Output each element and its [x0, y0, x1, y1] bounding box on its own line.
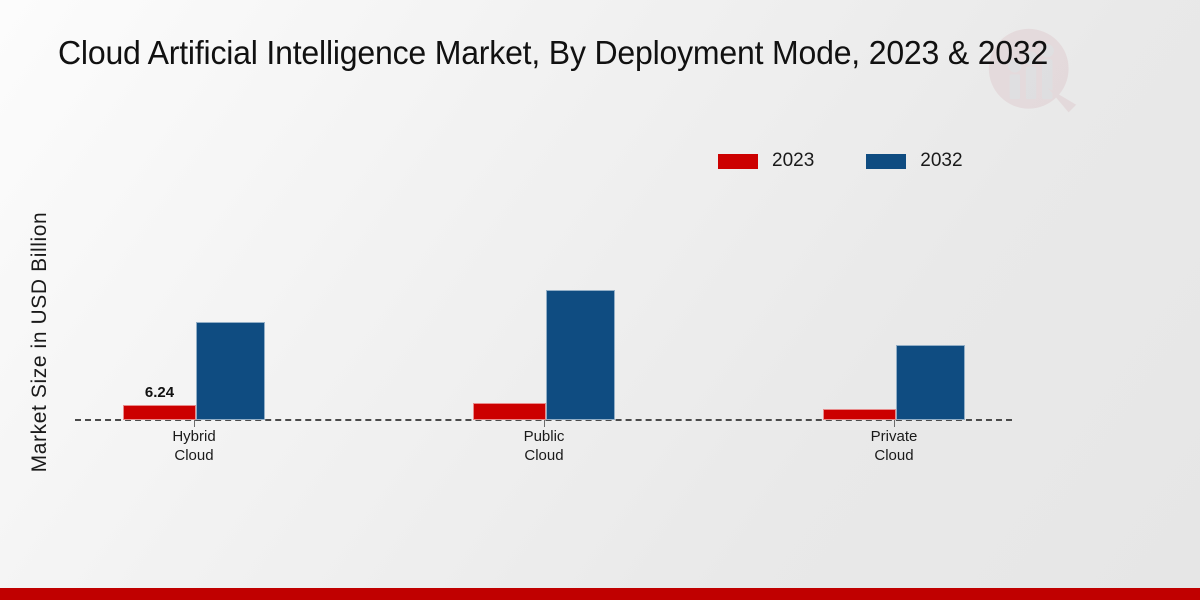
bar-private-cloud-2023[interactable]	[823, 409, 896, 420]
x-label-private-cloud-line1: Private	[794, 427, 994, 446]
footer-bar	[0, 588, 1200, 600]
x-label-public-cloud-line2: Cloud	[444, 446, 644, 465]
x-tick-private-cloud	[894, 420, 895, 427]
chart-plot-area: 6.24 Hybrid Cloud Public Cloud Private C…	[0, 0, 1200, 600]
bar-hybrid-cloud-2032[interactable]	[196, 322, 265, 420]
x-label-hybrid-cloud-line1: Hybrid	[94, 427, 294, 446]
bar-public-cloud-2023[interactable]	[473, 403, 546, 420]
bar-private-cloud-2032[interactable]	[896, 345, 965, 420]
bar-value-hybrid-cloud-2023: 6.24	[124, 384, 195, 401]
bar-group-private-cloud	[823, 340, 965, 420]
x-label-private-cloud: Private Cloud	[794, 427, 994, 465]
x-label-hybrid-cloud: Hybrid Cloud	[94, 427, 294, 465]
x-label-hybrid-cloud-line2: Cloud	[94, 446, 294, 465]
x-label-private-cloud-line2: Cloud	[794, 446, 994, 465]
bar-public-cloud-2032[interactable]	[546, 290, 615, 420]
x-label-public-cloud: Public Cloud	[444, 427, 644, 465]
bar-group-hybrid-cloud: 6.24	[123, 310, 265, 420]
x-tick-hybrid-cloud	[194, 420, 195, 427]
x-tick-public-cloud	[544, 420, 545, 427]
x-label-public-cloud-line1: Public	[444, 427, 644, 446]
bar-hybrid-cloud-2023[interactable]: 6.24	[123, 405, 196, 420]
bar-group-public-cloud	[473, 285, 615, 420]
